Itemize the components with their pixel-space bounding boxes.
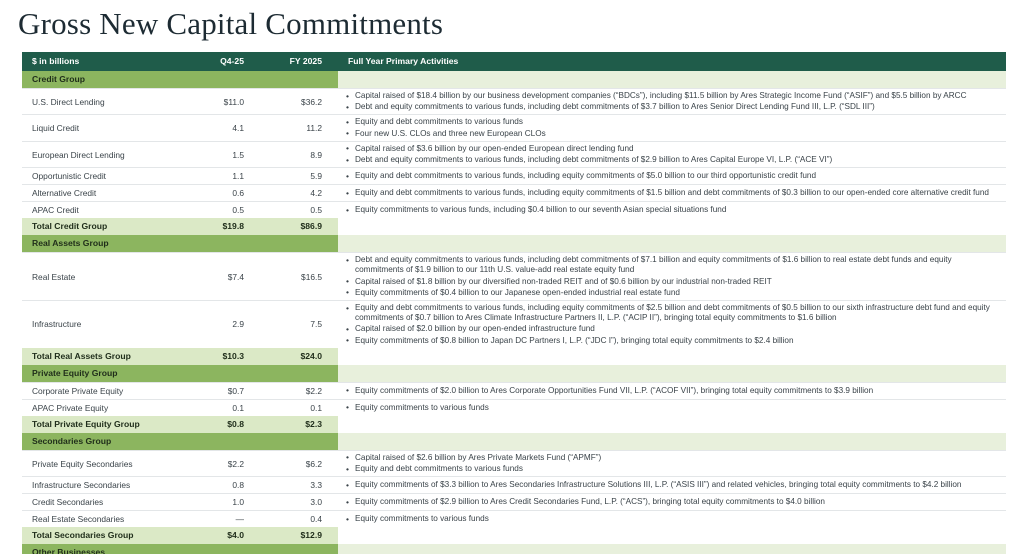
row-value-fy: 3.0 xyxy=(260,494,338,511)
row-activities: Capital raised of $18.4 billion by our b… xyxy=(338,89,1006,115)
row-activities xyxy=(338,348,1006,365)
row-label: European Direct Lending xyxy=(22,141,182,167)
row-label: Infrastructure xyxy=(22,301,182,348)
total-row: Total Secondaries Group$4.0$12.9 xyxy=(22,527,1006,544)
activity-bullet: Equity commitments to various funds, inc… xyxy=(344,205,1002,215)
row-value-fy: 0.4 xyxy=(260,511,338,528)
row-activities: Equity commitments to various funds, inc… xyxy=(338,202,1006,219)
activity-bullet: Capital raised of $18.4 billion by our b… xyxy=(344,91,1002,101)
row-activities: Capital raised of $2.6 billion by Ares P… xyxy=(338,450,1006,476)
activity-bullet-list: Capital raised of $18.4 billion by our b… xyxy=(344,91,1002,112)
activity-bullet: Debt and equity commitments to various f… xyxy=(344,102,1002,112)
row-value-fy: $12.9 xyxy=(260,527,338,544)
table-body: $ in billions Q4-25 FY 2025 Full Year Pr… xyxy=(22,52,1006,554)
row-label: Infrastructure Secondaries xyxy=(22,477,182,494)
row-label: Credit Secondaries xyxy=(22,494,182,511)
activity-bullet-list: Debt and equity commitments to various f… xyxy=(344,255,1002,298)
row-value-fy: $2.3 xyxy=(260,416,338,433)
table-row: European Direct Lending1.58.9Capital rai… xyxy=(22,141,1006,167)
row-label: U.S. Direct Lending xyxy=(22,89,182,115)
table-row: Infrastructure2.97.5Equity and debt comm… xyxy=(22,301,1006,348)
row-label: Real Estate Secondaries xyxy=(22,511,182,528)
row-value-fy: 4.2 xyxy=(260,185,338,202)
row-value-q4 xyxy=(182,433,260,451)
row-value-fy xyxy=(260,235,338,253)
row-label: APAC Credit xyxy=(22,202,182,219)
table-row: APAC Private Equity0.10.1Equity commitme… xyxy=(22,399,1006,416)
activity-bullet: Four new U.S. CLOs and three new Europea… xyxy=(344,129,1002,139)
row-activities xyxy=(338,527,1006,544)
commitments-table-container: $ in billions Q4-25 FY 2025 Full Year Pr… xyxy=(22,52,1006,554)
row-value-fy: 5.9 xyxy=(260,168,338,185)
activity-bullet: Equity commitments of $2.9 billion to Ar… xyxy=(344,497,1002,507)
row-label: APAC Private Equity xyxy=(22,399,182,416)
row-value-q4: 2.9 xyxy=(182,301,260,348)
activity-bullet-list: Capital raised of $3.6 billion by our op… xyxy=(344,144,1002,165)
column-header-fy: FY 2025 xyxy=(260,52,338,71)
activity-bullet: Capital raised of $1.8 billion by our di… xyxy=(344,277,1002,287)
activity-bullet: Equity and debt commitments to various f… xyxy=(344,117,1002,127)
row-label: Total Private Equity Group xyxy=(22,416,182,433)
activity-bullet: Equity commitments to various funds xyxy=(344,514,1002,524)
activity-bullet-list: Equity and debt commitments to various f… xyxy=(344,188,1002,198)
row-activities xyxy=(338,433,1006,451)
row-value-q4: 0.8 xyxy=(182,477,260,494)
row-label: Corporate Private Equity xyxy=(22,382,182,399)
row-activities: Debt and equity commitments to various f… xyxy=(338,253,1006,301)
activity-bullet-list: Equity commitments to various funds, inc… xyxy=(344,205,1002,215)
row-activities xyxy=(338,218,1006,235)
row-value-fy xyxy=(260,365,338,383)
row-value-q4: 0.1 xyxy=(182,399,260,416)
table-row: Liquid Credit4.111.2Equity and debt comm… xyxy=(22,115,1006,141)
row-value-fy xyxy=(260,71,338,89)
table-row: Corporate Private Equity$0.7$2.2Equity c… xyxy=(22,382,1006,399)
table-header-row: $ in billions Q4-25 FY 2025 Full Year Pr… xyxy=(22,52,1006,71)
activity-bullet-list: Equity and debt commitments to various f… xyxy=(344,117,1002,138)
row-value-q4: $2.2 xyxy=(182,450,260,476)
row-value-fy: $2.2 xyxy=(260,382,338,399)
row-value-fy: $36.2 xyxy=(260,89,338,115)
total-row: Total Real Assets Group$10.3$24.0 xyxy=(22,348,1006,365)
column-header-label: $ in billions xyxy=(22,52,182,71)
group-header-row: Other Businesses xyxy=(22,544,1006,554)
row-label: Total Credit Group xyxy=(22,218,182,235)
row-value-q4 xyxy=(182,235,260,253)
row-label: Private Equity Secondaries xyxy=(22,450,182,476)
activity-bullet: Equity commitments of $3.3 billion to Ar… xyxy=(344,480,1002,490)
row-value-q4 xyxy=(182,365,260,383)
row-activities xyxy=(338,365,1006,383)
activity-bullet: Equity and debt commitments to various f… xyxy=(344,464,1002,474)
row-label: Total Secondaries Group xyxy=(22,527,182,544)
row-value-q4: 0.6 xyxy=(182,185,260,202)
column-header-q4: Q4-25 xyxy=(182,52,260,71)
row-activities: Equity and debt commitments to various f… xyxy=(338,301,1006,348)
row-value-q4: 0.5 xyxy=(182,202,260,219)
row-label: Secondaries Group xyxy=(22,433,182,451)
activity-bullet-list: Equity commitments of $2.0 billion to Ar… xyxy=(344,386,1002,396)
activity-bullet: Equity and debt commitments to various f… xyxy=(344,171,1002,181)
row-value-q4 xyxy=(182,544,260,554)
row-activities: Equity commitments to various funds xyxy=(338,399,1006,416)
row-activities: Equity commitments to various funds xyxy=(338,511,1006,528)
activity-bullet-list: Equity commitments of $3.3 billion to Ar… xyxy=(344,480,1002,490)
activity-bullet: Equity and debt commitments to various f… xyxy=(344,303,1002,323)
row-value-q4: $0.8 xyxy=(182,416,260,433)
row-activities xyxy=(338,235,1006,253)
group-header-row: Credit Group xyxy=(22,71,1006,89)
activity-bullet: Debt and equity commitments to various f… xyxy=(344,255,1002,275)
activity-bullet: Debt and equity commitments to various f… xyxy=(344,155,1002,165)
row-value-fy: $6.2 xyxy=(260,450,338,476)
row-value-fy xyxy=(260,544,338,554)
row-label: Credit Group xyxy=(22,71,182,89)
row-value-q4: $4.0 xyxy=(182,527,260,544)
table-row: Opportunistic Credit1.15.9Equity and deb… xyxy=(22,168,1006,185)
row-activities: Equity and debt commitments to various f… xyxy=(338,185,1006,202)
activity-bullet: Capital raised of $3.6 billion by our op… xyxy=(344,144,1002,154)
row-value-q4: $7.4 xyxy=(182,253,260,301)
row-activities: Equity commitments of $3.3 billion to Ar… xyxy=(338,477,1006,494)
row-value-q4: 4.1 xyxy=(182,115,260,141)
row-activities: Equity commitments of $2.0 billion to Ar… xyxy=(338,382,1006,399)
row-label: Other Businesses xyxy=(22,544,182,554)
row-activities: Equity and debt commitments to various f… xyxy=(338,115,1006,141)
activity-bullet: Capital raised of $2.0 billion by our op… xyxy=(344,324,1002,334)
total-row: Total Private Equity Group$0.8$2.3 xyxy=(22,416,1006,433)
row-value-fy: 0.1 xyxy=(260,399,338,416)
row-activities: Equity commitments of $2.9 billion to Ar… xyxy=(338,494,1006,511)
table-row: Credit Secondaries1.03.0Equity commitmen… xyxy=(22,494,1006,511)
activity-bullet-list: Equity and debt commitments to various f… xyxy=(344,303,1002,346)
row-value-q4: $0.7 xyxy=(182,382,260,399)
activity-bullet-list: Equity commitments to various funds xyxy=(344,403,1002,413)
total-row: Total Credit Group$19.8$86.9 xyxy=(22,218,1006,235)
row-value-q4: $19.8 xyxy=(182,218,260,235)
table-row: Real Estate$7.4$16.5Debt and equity comm… xyxy=(22,253,1006,301)
row-label: Opportunistic Credit xyxy=(22,168,182,185)
row-value-q4: $10.3 xyxy=(182,348,260,365)
activity-bullet: Equity commitments of $0.8 billion to Ja… xyxy=(344,336,1002,346)
row-value-fy: $16.5 xyxy=(260,253,338,301)
table-row: U.S. Direct Lending$11.0$36.2Capital rai… xyxy=(22,89,1006,115)
activity-bullet: Equity commitments to various funds xyxy=(344,403,1002,413)
row-value-fy: 0.5 xyxy=(260,202,338,219)
row-activities: Capital raised of $3.6 billion by our op… xyxy=(338,141,1006,167)
activity-bullet: Equity commitments of $2.0 billion to Ar… xyxy=(344,386,1002,396)
row-label: Alternative Credit xyxy=(22,185,182,202)
table-row: Alternative Credit0.64.2Equity and debt … xyxy=(22,185,1006,202)
row-value-q4: — xyxy=(182,511,260,528)
table-row: Infrastructure Secondaries0.83.3Equity c… xyxy=(22,477,1006,494)
row-value-q4: 1.1 xyxy=(182,168,260,185)
row-value-fy: $86.9 xyxy=(260,218,338,235)
row-value-fy: 7.5 xyxy=(260,301,338,348)
page-title: Gross New Capital Commitments xyxy=(18,6,443,42)
row-value-fy: 8.9 xyxy=(260,141,338,167)
slide-page: Gross New Capital Commitments $ in billi… xyxy=(0,0,1028,554)
row-value-fy: 3.3 xyxy=(260,477,338,494)
column-header-activities: Full Year Primary Activities xyxy=(338,52,1006,71)
table-row: Private Equity Secondaries$2.2$6.2Capita… xyxy=(22,450,1006,476)
activity-bullet: Equity commitments of $0.4 billion to ou… xyxy=(344,288,1002,298)
activity-bullet: Capital raised of $2.6 billion by Ares P… xyxy=(344,453,1002,463)
group-header-row: Real Assets Group xyxy=(22,235,1006,253)
row-activities xyxy=(338,544,1006,554)
commitments-table: $ in billions Q4-25 FY 2025 Full Year Pr… xyxy=(22,52,1006,554)
table-row: APAC Credit0.50.5Equity commitments to v… xyxy=(22,202,1006,219)
row-label: Real Assets Group xyxy=(22,235,182,253)
activity-bullet-list: Equity and debt commitments to various f… xyxy=(344,171,1002,181)
activity-bullet-list: Equity commitments to various funds xyxy=(344,514,1002,524)
row-value-q4 xyxy=(182,71,260,89)
row-label: Total Real Assets Group xyxy=(22,348,182,365)
row-value-fy: $24.0 xyxy=(260,348,338,365)
row-value-fy xyxy=(260,433,338,451)
row-label: Liquid Credit xyxy=(22,115,182,141)
activity-bullet-list: Equity commitments of $2.9 billion to Ar… xyxy=(344,497,1002,507)
row-activities xyxy=(338,71,1006,89)
row-label: Real Estate xyxy=(22,253,182,301)
table-row: Real Estate Secondaries—0.4Equity commit… xyxy=(22,511,1006,528)
group-header-row: Secondaries Group xyxy=(22,433,1006,451)
activity-bullet-list: Capital raised of $2.6 billion by Ares P… xyxy=(344,453,1002,474)
row-value-q4: 1.5 xyxy=(182,141,260,167)
row-value-q4: $11.0 xyxy=(182,89,260,115)
group-header-row: Private Equity Group xyxy=(22,365,1006,383)
row-label: Private Equity Group xyxy=(22,365,182,383)
activity-bullet: Equity and debt commitments to various f… xyxy=(344,188,1002,198)
row-activities xyxy=(338,416,1006,433)
row-activities: Equity and debt commitments to various f… xyxy=(338,168,1006,185)
row-value-fy: 11.2 xyxy=(260,115,338,141)
row-value-q4: 1.0 xyxy=(182,494,260,511)
